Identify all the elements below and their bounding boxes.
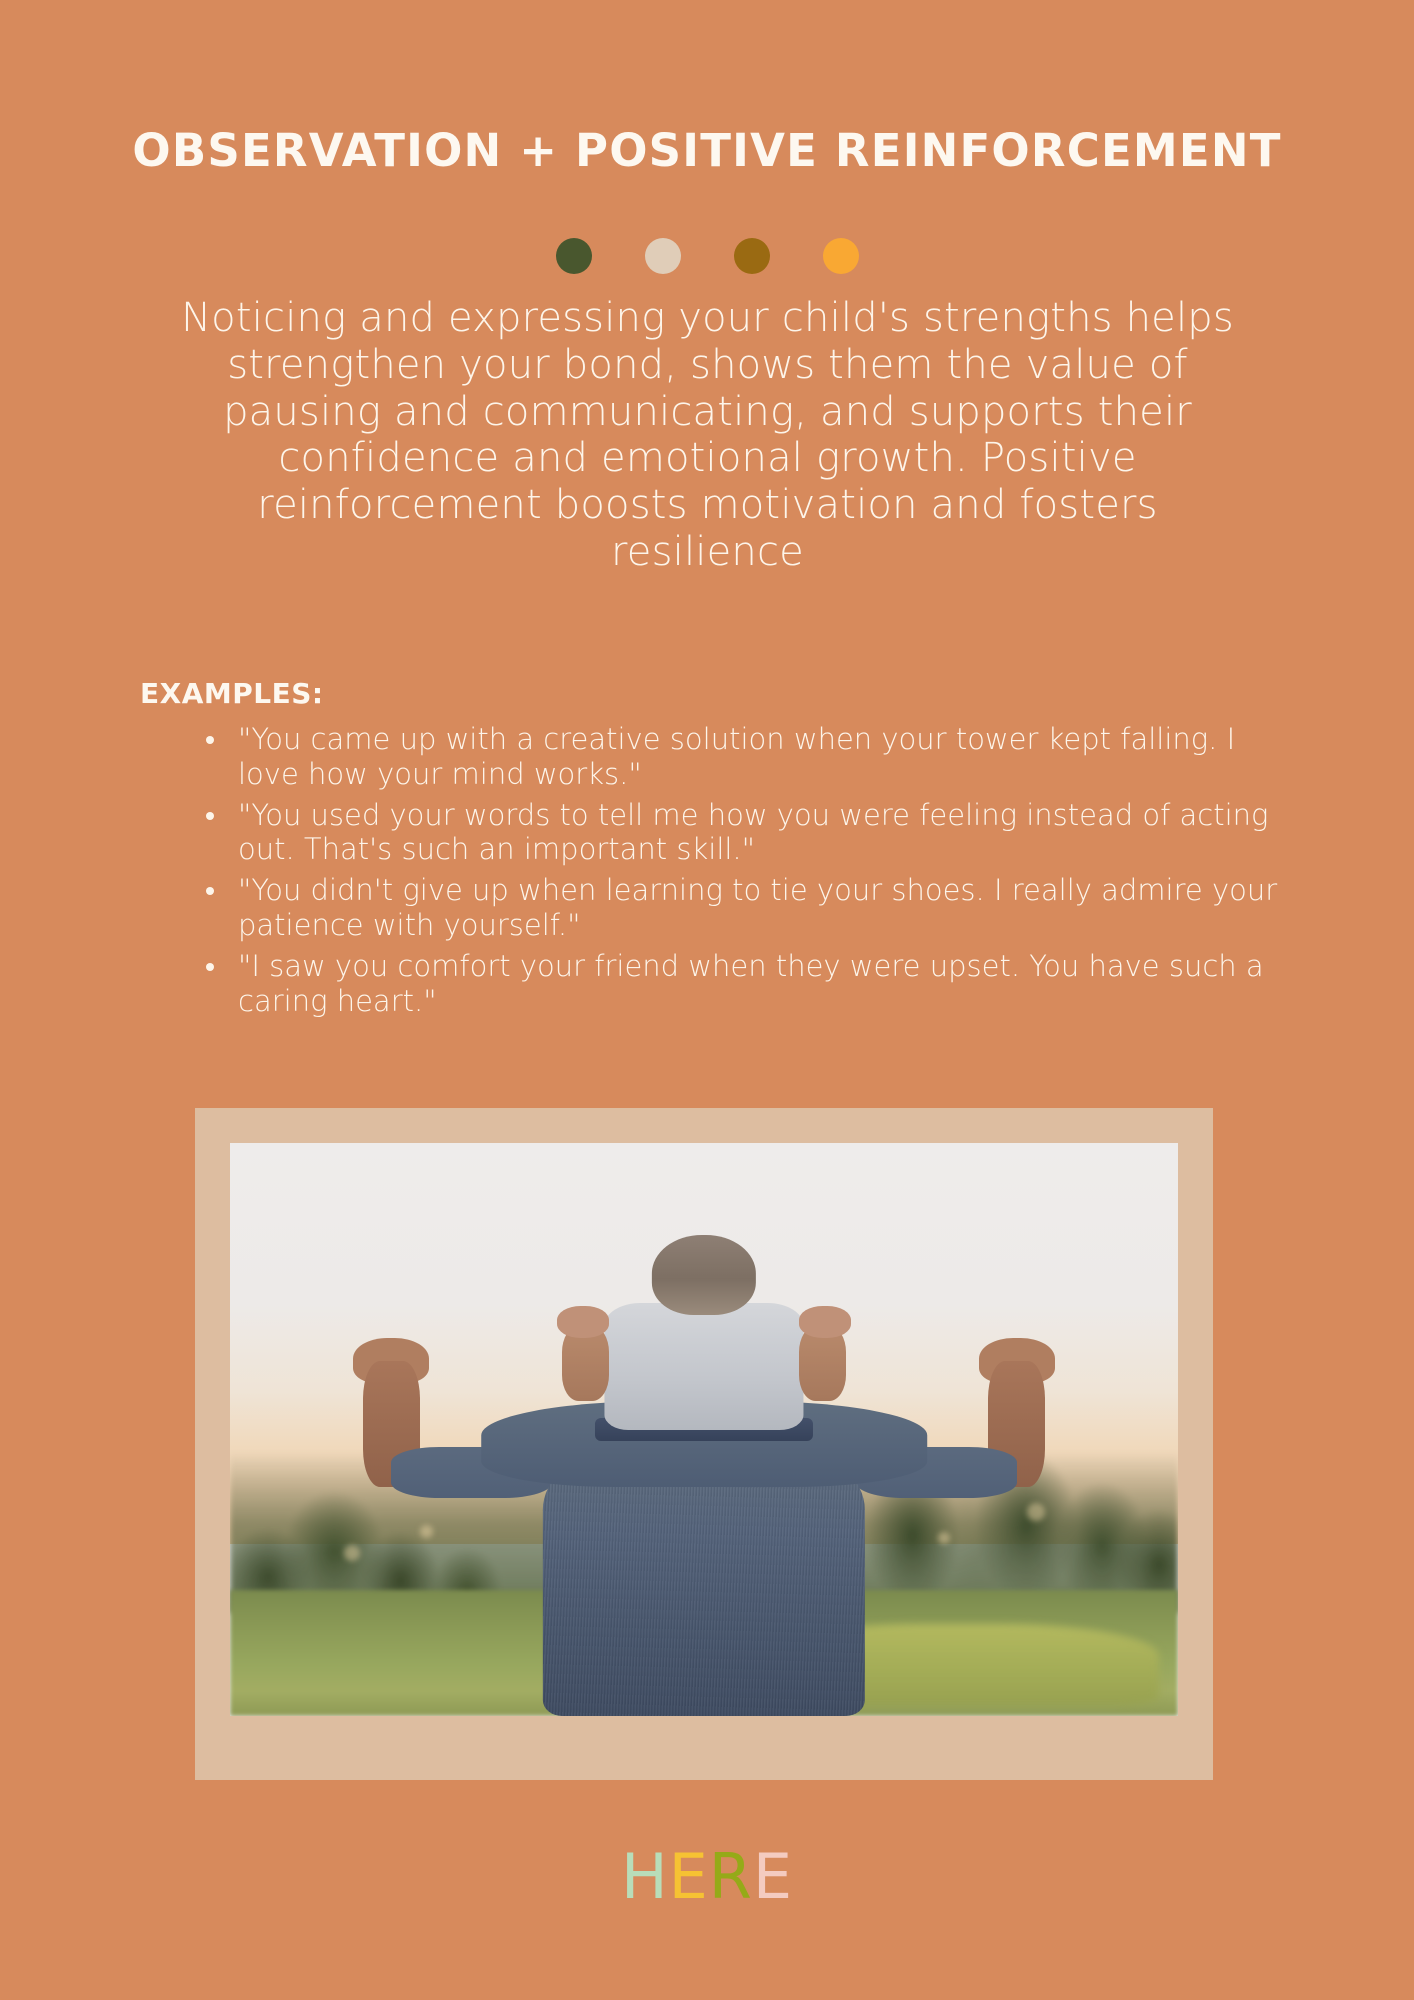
child-head: [652, 1235, 756, 1315]
logo-letter-e1: E: [669, 1840, 709, 1913]
list-item: "You came up with a creative solution wh…: [220, 722, 1295, 792]
photo-frame: [195, 1108, 1213, 1780]
photo-bokeh: [420, 1525, 433, 1538]
examples-list: "You came up with a creative solution wh…: [170, 722, 1295, 1024]
page-title: OBSERVATION + POSITIVE REINFORCEMENT: [0, 128, 1414, 173]
child-fist-left: [557, 1306, 609, 1338]
examples-heading: EXAMPLES:: [140, 677, 324, 710]
logo-letter-e2: E: [753, 1840, 793, 1913]
child-shirt: [604, 1303, 803, 1429]
list-item: "You used your words to tell me how you …: [220, 798, 1295, 868]
list-item: "I saw you comfort your friend when they…: [220, 949, 1295, 1019]
color-dot-row: [0, 238, 1414, 274]
footer-logo: HERE: [0, 1846, 1414, 1908]
poster-canvas: OBSERVATION + POSITIVE REINFORCEMENT Not…: [0, 0, 1414, 2000]
father-torso: [543, 1452, 865, 1716]
logo-letter-r: R: [709, 1840, 753, 1913]
photo-bokeh: [344, 1545, 360, 1561]
list-item: "You didn't give up when learning to tie…: [220, 873, 1295, 943]
intro-paragraph: Noticing and expressing your child's str…: [180, 295, 1235, 576]
photo-father-and-child: [230, 1143, 1178, 1716]
logo-letter-h: H: [621, 1840, 669, 1913]
dot-dark-green: [556, 238, 592, 274]
child-fist-right: [799, 1306, 851, 1338]
dot-amber: [823, 238, 859, 274]
dot-cream: [645, 238, 681, 274]
dot-dark-gold: [734, 238, 770, 274]
